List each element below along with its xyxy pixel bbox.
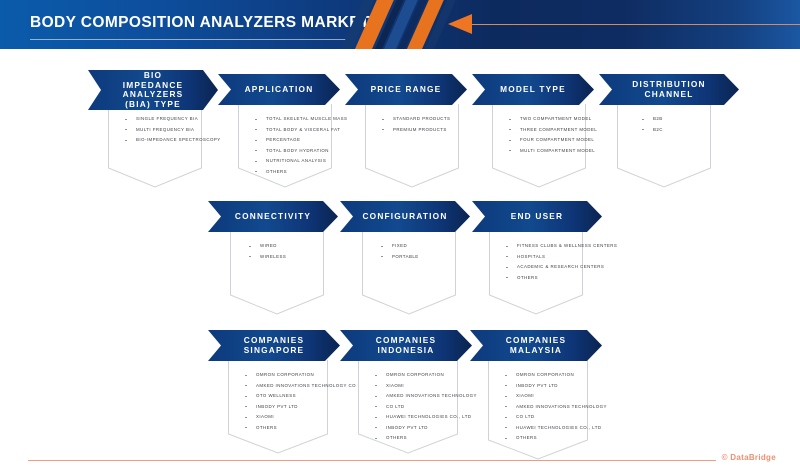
box-chevron-bottom (365, 166, 459, 188)
segment-banner-application[interactable]: APPLICATION (218, 74, 340, 105)
banner-line-2: IMPEDANCE ANALYZERS (123, 80, 184, 100)
header-arrow-line (472, 24, 800, 25)
list-item-continuation: PERCENTAGE (255, 135, 323, 146)
list-item: PREMIUM PRODUCTS (382, 125, 450, 136)
list-item: ACADEMIC & RESEARCH CENTERS (506, 262, 574, 273)
bullet-list: WIRED WIRELESS (231, 231, 323, 268)
segment-banner-connectivity[interactable]: CONNECTIVITY (208, 201, 338, 232)
banner-label: DISTRIBUTION CHANNEL (611, 80, 727, 99)
segment-banner-bia-type[interactable]: BIO IMPEDANCE ANALYZERS (BIA) TYPE (88, 70, 218, 110)
list-item: TWO COMPARTMENT MODEL (509, 114, 577, 125)
list-item: HUAWEI TECHNOLOGIES CO., LTD (505, 423, 579, 434)
list-item: OMRON CORPORATION (375, 370, 449, 381)
banner-label: COMPANIES SINGAPORE (220, 336, 328, 355)
segment-banner-price-range[interactable]: PRICE RANGE (345, 74, 467, 105)
bullet-list: FIXED PORTABLE (363, 231, 455, 268)
box-chevron-bottom (358, 432, 458, 454)
segment-banner-end-user[interactable]: END USER (472, 201, 602, 232)
bullet-list: OMRON CORPORATION AMKED INNOVATIONS TECH… (229, 360, 327, 439)
box-chevron-bottom (238, 166, 332, 188)
segment-box-configuration: FIXED PORTABLE (362, 231, 456, 293)
list-item: XIAOMI (505, 391, 579, 402)
segment-box-end-user: FITNESS CLUBS & WELLNESS CENTERS HOSPITA… (489, 231, 583, 293)
list-item: MULTI FREQUENCY BIA (125, 125, 193, 136)
box-chevron-bottom (617, 166, 711, 188)
list-item: SINGLE FREQUENCY BIA (125, 114, 193, 125)
list-item: OMRON CORPORATION (505, 370, 579, 381)
list-item: AMKED INNOVATIONS TECHNOLOGY (505, 402, 579, 413)
box-chevron-bottom (228, 432, 328, 454)
list-item: OTO WELLNESS (245, 391, 319, 402)
banner-label: CONFIGURATION (362, 212, 447, 222)
banner-label: COMPANIES INDONESIA (352, 336, 460, 355)
banner-label: MODEL TYPE (500, 85, 566, 95)
segment-box-connectivity: WIRED WIRELESS (230, 231, 324, 293)
list-item: B2B (642, 114, 702, 125)
list-item: HOSPITALS (506, 252, 574, 263)
segment-box-model-type: TWO COMPARTMENT MODEL THREE COMPARTMENT … (492, 104, 586, 166)
segment-banner-configuration[interactable]: CONFIGURATION (340, 201, 470, 232)
list-item: BIO-IMPEDANCE SPECTROSCOPY (125, 135, 193, 146)
box-chevron-bottom (492, 166, 586, 188)
list-item: MULTI COMPARTMENT MODEL (509, 146, 577, 157)
banner-line-3: (BIA) TYPE (125, 99, 181, 109)
page-title: BODY COMPOSITION ANALYZERS MARKET (30, 14, 370, 32)
footer-divider (28, 460, 772, 461)
list-item: XIAOMI (375, 381, 449, 392)
bullet-list: SINGLE FREQUENCY BIA MULTI FREQUENCY BIA… (109, 104, 201, 152)
bullet-list: STANDARD PRODUCTS PREMIUM PRODUCTS (366, 104, 458, 141)
list-item: TOTAL BODY & VISCERAL FAT (255, 125, 323, 136)
list-item-continuation: CO LTD (505, 412, 579, 423)
list-item: FOUR COMPARTMENT MODEL (509, 135, 577, 146)
segment-box-companies-malaysia: OMRON CORPORATION INBODY PVT LTD XIAOMI … (488, 360, 588, 438)
segment-box-companies-indonesia: OMRON CORPORATION XIAOMI AMKED INNOVATIO… (358, 360, 458, 432)
list-item: THREE COMPARTMENT MODEL (509, 125, 577, 136)
segment-banner-model-type[interactable]: MODEL TYPE (472, 74, 594, 105)
list-item: WIRED (249, 241, 315, 252)
segment-box-price-range: STANDARD PRODUCTS PREMIUM PRODUCTS (365, 104, 459, 166)
segment-banner-companies-singapore[interactable]: COMPANIES SINGAPORE (208, 330, 340, 361)
list-item: XIAOMI (245, 412, 319, 423)
list-item: PORTABLE (381, 252, 447, 263)
list-item: TOTAL SKELETAL MUSCLE MASS (255, 114, 323, 125)
segment-banner-companies-malaysia[interactable]: COMPANIES MALAYSIA (470, 330, 602, 361)
bullet-list: FITNESS CLUBS & WELLNESS CENTERS HOSPITA… (490, 231, 582, 289)
title-underline (30, 39, 346, 40)
banner-label: END USER (511, 212, 563, 222)
banner-line-1: BIO (144, 70, 162, 80)
segment-box-distribution-channel: B2B B2C (617, 104, 711, 166)
segment-banner-companies-indonesia[interactable]: COMPANIES INDONESIA (340, 330, 472, 361)
banner-label: PRICE RANGE (371, 85, 442, 95)
list-item: OTHERS (506, 273, 574, 284)
segment-box-bia-type: SINGLE FREQUENCY BIA MULTI FREQUENCY BIA… (108, 104, 202, 166)
list-item: OMRON CORPORATION (245, 370, 319, 381)
list-item: B2C (642, 125, 702, 136)
box-chevron-bottom (489, 293, 583, 315)
segment-box-application: TOTAL SKELETAL MUSCLE MASS TOTAL BODY & … (238, 104, 332, 166)
banner-label: APPLICATION (245, 85, 314, 95)
page-header: BODY COMPOSITION ANALYZERS MARKET (0, 0, 800, 49)
list-item: STANDARD PRODUCTS (382, 114, 450, 125)
list-item-continuation: CO LTD (375, 402, 449, 413)
footer-brand: © DataBridge (716, 453, 776, 462)
box-chevron-bottom (230, 293, 324, 315)
box-chevron-bottom (362, 293, 456, 315)
list-item: AMKED INNOVATIONS TECHNOLOGY (375, 391, 449, 402)
list-item: INBODY PVT LTD (245, 402, 319, 413)
list-item: AMKED INNOVATIONS TECHNOLOGY CO LTD (245, 381, 319, 392)
bullet-list: TWO COMPARTMENT MODEL THREE COMPARTMENT … (493, 104, 585, 162)
box-chevron-bottom (488, 438, 588, 460)
bullet-list: OMRON CORPORATION INBODY PVT LTD XIAOMI … (489, 360, 587, 450)
list-item: NUTRITIONAL ANALYSIS (255, 156, 323, 167)
list-item: FITNESS CLUBS & WELLNESS CENTERS (506, 241, 574, 252)
left-arrow-icon (448, 14, 472, 34)
segment-box-companies-singapore: OMRON CORPORATION AMKED INNOVATIONS TECH… (228, 360, 328, 432)
list-item: HUAWEI TECHNOLOGIES CO., LTD (375, 412, 449, 423)
list-item: WIRELESS (249, 252, 315, 263)
segment-banner-distribution-channel[interactable]: DISTRIBUTION CHANNEL (599, 74, 739, 105)
banner-label: COMPANIES MALAYSIA (482, 336, 590, 355)
list-item: TOTAL BODY HYDRATION (255, 146, 323, 157)
list-item: FIXED (381, 241, 447, 252)
bullet-list: B2B B2C (618, 104, 710, 141)
banner-label: CONNECTIVITY (235, 212, 311, 222)
box-chevron-bottom (108, 166, 202, 188)
list-item: INBODY PVT LTD (505, 381, 579, 392)
